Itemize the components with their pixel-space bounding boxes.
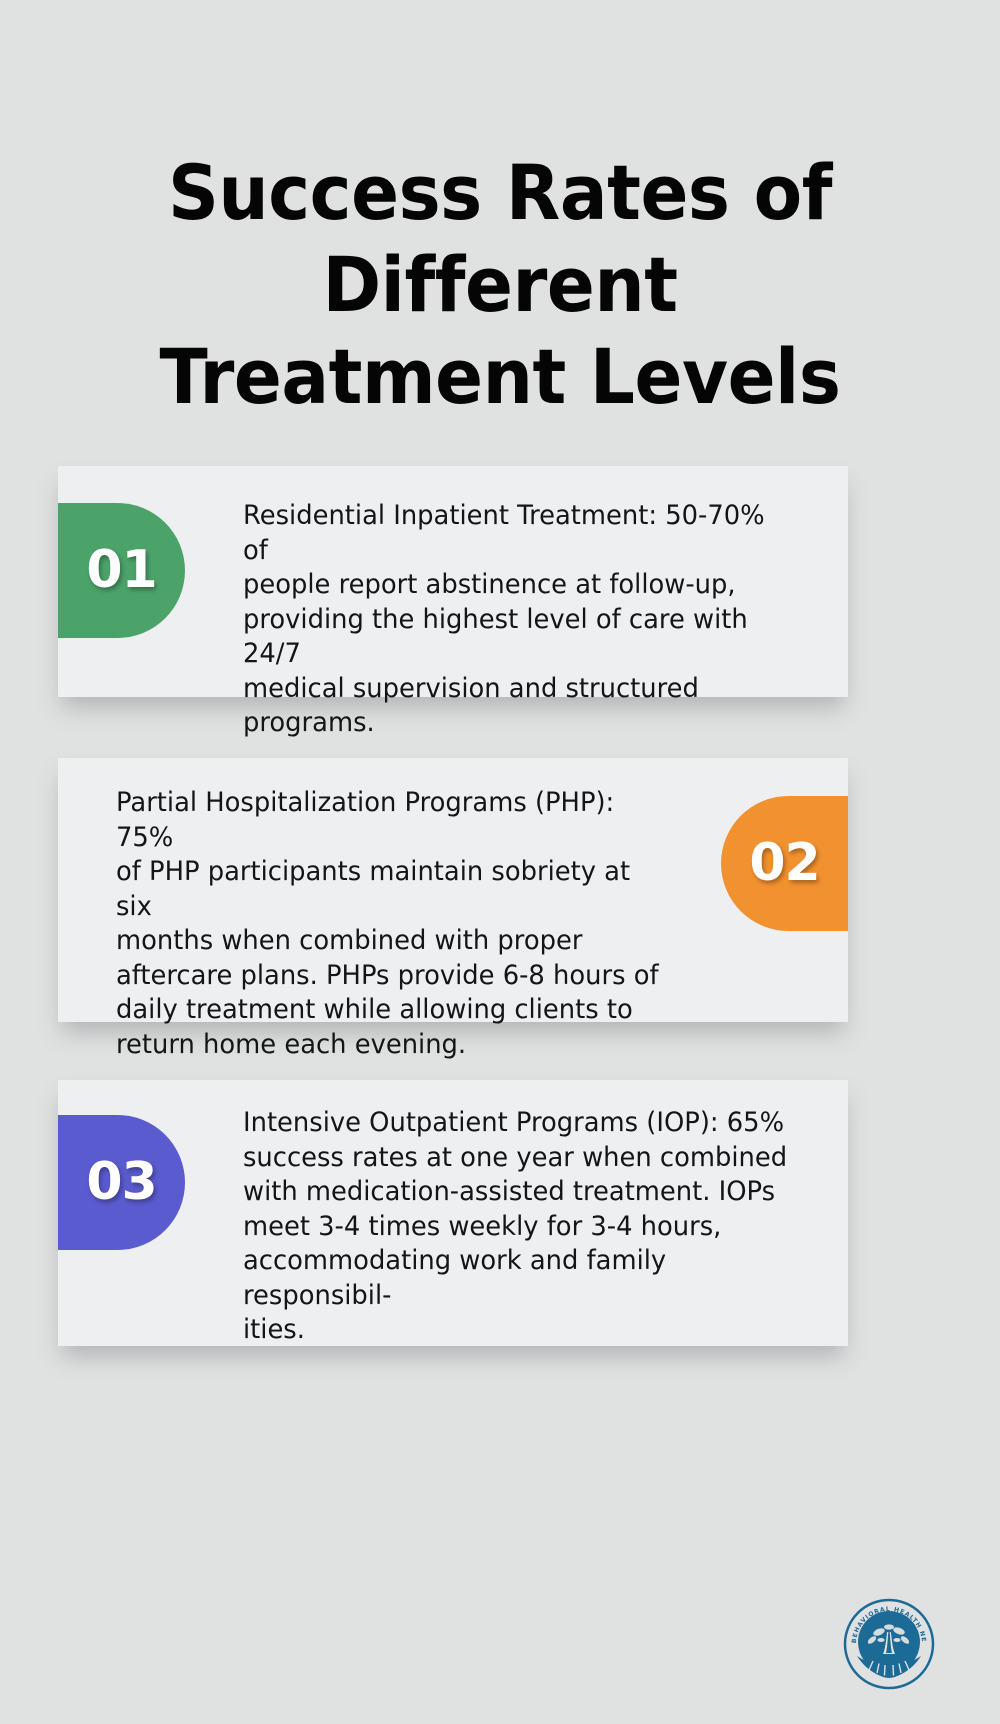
card-3-inner: 03 Intensive Outpatient Programs (IOP): … — [58, 1080, 848, 1346]
treatment-card-2: 02 Partial Hospitalization Programs (PHP… — [58, 758, 848, 1022]
card-2-inner: 02 Partial Hospitalization Programs (PHP… — [58, 758, 848, 1022]
treatment-card-1: 01 Residential Inpatient Treatment: 50-7… — [58, 466, 848, 697]
card-1-body-text: Residential Inpatient Treatment: 50-70% … — [243, 499, 797, 741]
page-title: Success Rates of Different Treatment Lev… — [109, 147, 890, 423]
card-1-number-badge: 01 — [58, 503, 185, 638]
tree-emblem-icon: AMITY BEHAVIORAL HEALTH NETWORK — [843, 1598, 935, 1690]
card-1-inner: 01 Residential Inpatient Treatment: 50-7… — [58, 466, 848, 697]
card-3-number-badge: 03 — [58, 1115, 185, 1250]
card-2-number-badge: 02 — [721, 796, 848, 931]
treatment-card-3: 03 Intensive Outpatient Programs (IOP): … — [58, 1080, 848, 1346]
infographic-page: Success Rates of Different Treatment Lev… — [0, 0, 1000, 1724]
card-3-body-text: Intensive Outpatient Programs (IOP): 65%… — [243, 1106, 787, 1348]
brand-logo: AMITY BEHAVIORAL HEALTH NETWORK — [843, 1598, 935, 1690]
card-2-body-text: Partial Hospitalization Programs (PHP): … — [116, 786, 670, 1062]
